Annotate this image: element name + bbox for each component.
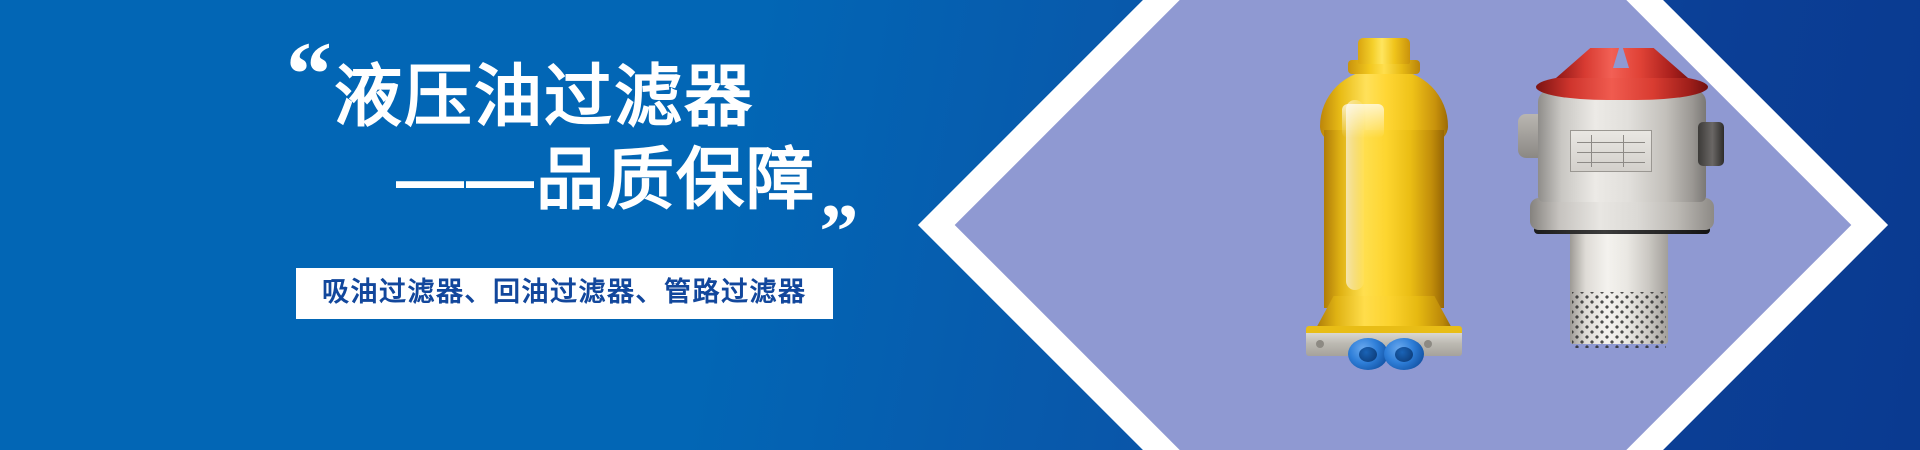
page-title: 液压油过滤器 ——品质保障„ bbox=[334, 56, 894, 222]
strainer-perforations bbox=[1572, 292, 1666, 348]
strainer-nameplate bbox=[1570, 130, 1652, 172]
product-image-yellow-return-filter bbox=[1284, 38, 1484, 348]
headline-line-2-wrap: ——品质保障„ bbox=[334, 139, 894, 222]
strainer-knob bbox=[1698, 122, 1724, 166]
filter-highlight-secondary bbox=[1342, 104, 1384, 138]
product-banner: “ 液压油过滤器 ——品质保障„ 吸油过滤器、回油过滤器、管路过滤器 bbox=[0, 0, 1920, 450]
filter-port-left bbox=[1348, 338, 1388, 370]
product-image-grey-suction-strainer bbox=[1512, 48, 1742, 348]
filter-body bbox=[1324, 130, 1444, 308]
filter-port-right bbox=[1384, 338, 1424, 370]
headline-line-2: ——品质保障 bbox=[396, 142, 816, 218]
filter-bolt-right bbox=[1424, 340, 1432, 348]
headline-line-1: 液压油过滤器 bbox=[334, 56, 894, 139]
strainer-flange bbox=[1530, 198, 1714, 230]
subtitle-text: 吸油过滤器、回油过滤器、管路过滤器 bbox=[322, 277, 807, 307]
filter-neck bbox=[1358, 38, 1410, 64]
filter-bolt-left bbox=[1316, 340, 1324, 348]
subtitle-badge: 吸油过滤器、回油过滤器、管路过滤器 bbox=[296, 268, 833, 319]
banner-text-block: “ 液压油过滤器 ——品质保障„ 吸油过滤器、回油过滤器、管路过滤器 bbox=[286, 22, 886, 402]
open-quote-icon: “ bbox=[286, 28, 328, 120]
